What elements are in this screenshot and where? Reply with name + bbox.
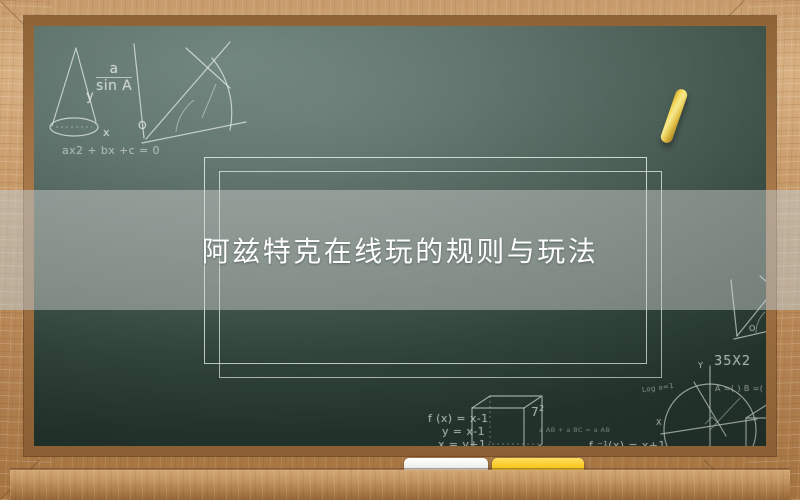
- page-title: 阿兹特克在线玩的规则与玩法: [0, 190, 800, 310]
- banner-image: y x O a sin A ax2 + bx +c = 0 f (x) = x-…: [0, 0, 800, 500]
- ledge-grain-texture: [10, 470, 790, 500]
- chalk-ledge: [10, 470, 790, 500]
